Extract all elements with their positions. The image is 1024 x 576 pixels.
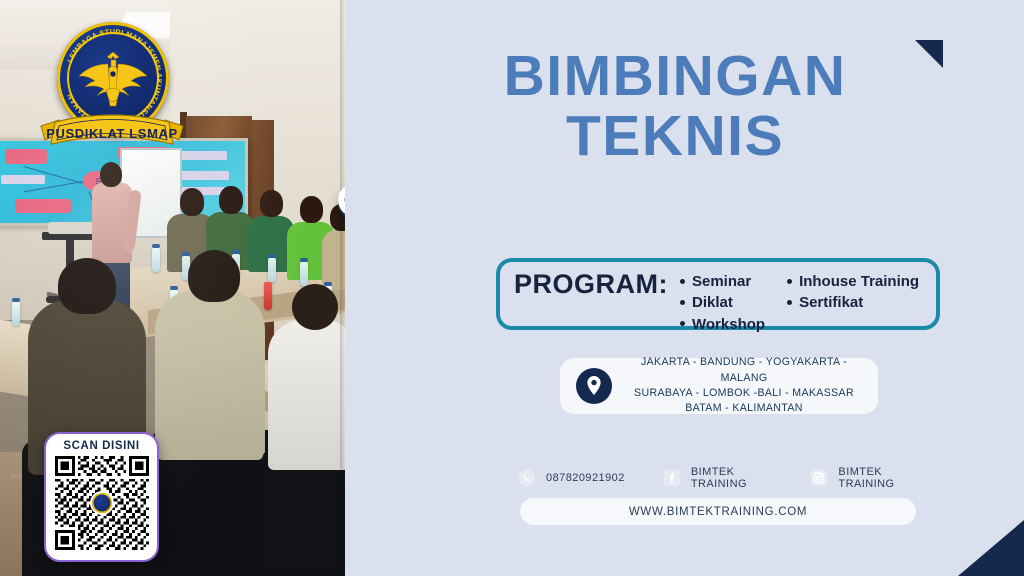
facebook-handle: BIMTEK TRAINING [691,466,771,490]
contact-row: 087820921902 BIMTEK TRAINING BIMTEK TRAI… [518,466,918,490]
logo-ribbon: PUSDIKLAT LSMAP [37,110,187,158]
program-item: Sertifikat [787,292,919,313]
whatsapp-icon [518,469,536,487]
qr-title: SCAN DISINI [63,440,139,452]
title-line-2: TEKNIS [345,106,1005,166]
corner-accent-triangle-icon [958,520,1024,576]
program-box: PROGRAM: Seminar Diklat Workshop Inhouse… [496,258,940,330]
contact-instagram[interactable]: BIMTEK TRAINING [810,466,918,490]
locations-panel: JAKARTA - BANDUNG - YOGYAKARTA - MALANG … [560,358,878,414]
bullet-icon [787,300,792,305]
contact-facebook[interactable]: BIMTEK TRAINING [663,466,771,490]
program-label: PROGRAM: [514,271,668,298]
location-line: BATAM - KALIMANTAN [626,401,862,416]
instagram-handle: BIMTEK TRAINING [838,466,918,490]
qr-center-logo-icon [92,493,112,513]
program-item: Seminar [680,271,765,292]
website-bar[interactable]: WWW.BIMTEKTRAINING.COM [520,498,916,525]
program-item: Diklat [680,292,765,313]
program-column-2: Inhouse Training Sertifikat [787,271,919,335]
instagram-icon [810,469,828,487]
location-line: SURABAYA - LOMBOK -BALI - MAKASSAR [626,386,862,401]
bullet-icon [680,279,685,284]
page-title: BIMBINGAN TEKNIS [345,46,1005,167]
qr-code-image[interactable] [55,456,149,550]
whatsapp-number: 087820921902 [546,472,625,484]
contact-whatsapp[interactable]: 087820921902 [518,469,625,487]
bullet-icon [680,300,685,305]
program-item: Workshop [680,314,765,335]
logo-ribbon-label: PUSDIKLAT LSMAP [46,126,178,141]
bullet-icon [787,279,792,284]
pusdiklat-lsmap-logo: LEMBAGA STUDI MANAJEMEN AKUNTANSI DAN PE… [37,22,187,167]
poster-root: LEMBAGA STUDI MANAJEMEN AKUNTANSI DAN PE… [0,0,1024,576]
facebook-icon [663,469,681,487]
program-item: Inhouse Training [787,271,919,292]
garuda-emblem-icon [75,44,151,110]
map-pin-icon [576,368,612,404]
title-line-1: BIMBINGAN [345,46,1005,106]
website-label: WWW.BIMTEKTRAINING.COM [629,506,807,518]
bullet-icon [680,321,685,326]
qr-code-card[interactable]: SCAN DISINI [44,432,159,562]
locations-text: JAKARTA - BANDUNG - YOGYAKARTA - MALANG … [626,355,862,416]
location-line: JAKARTA - BANDUNG - YOGYAKARTA - MALANG [626,355,862,386]
program-column-1: Seminar Diklat Workshop [680,271,765,335]
